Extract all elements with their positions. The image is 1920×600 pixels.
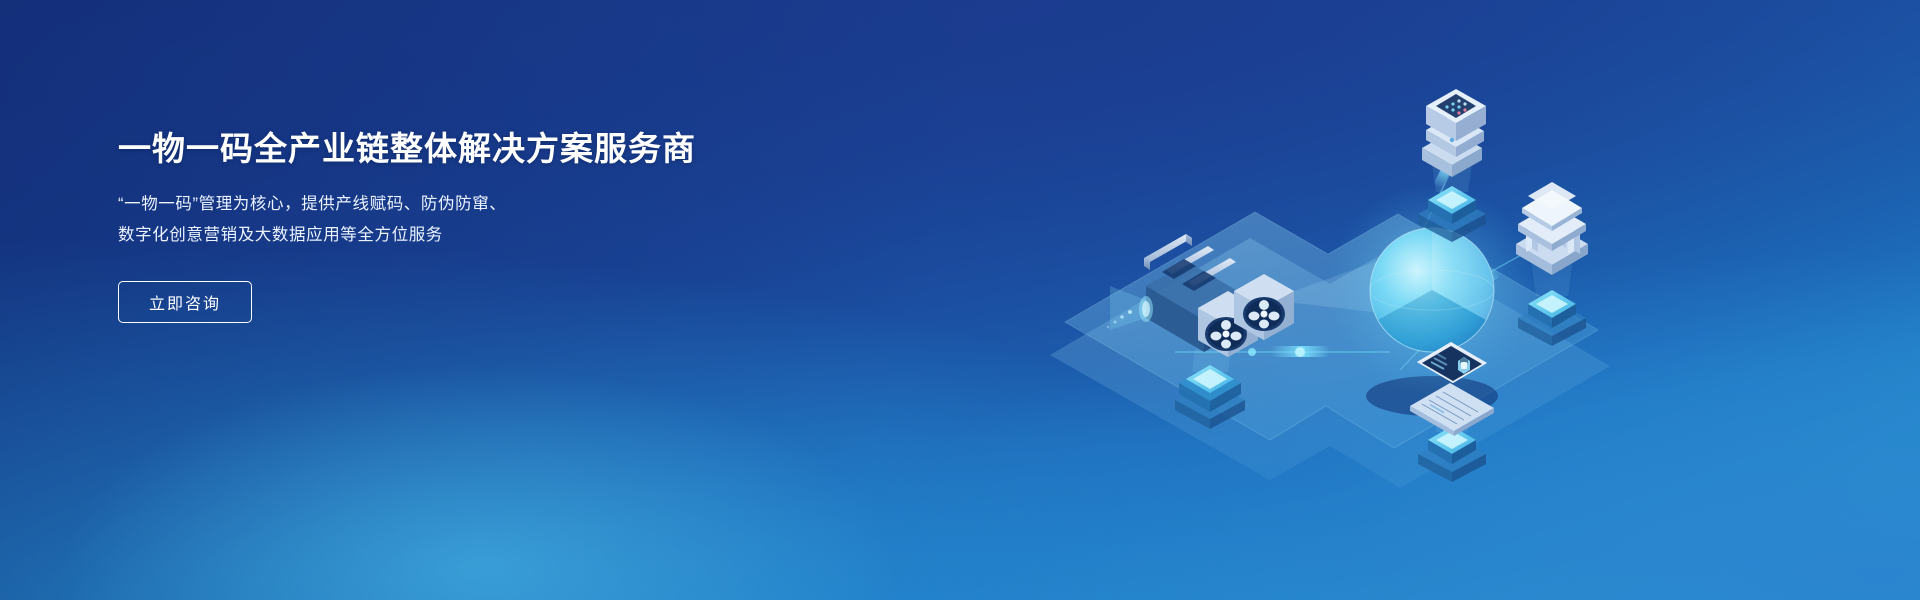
consult-now-button[interactable]: 立即咨询 — [118, 281, 252, 323]
subtitle-line-2: 数字化创意营销及大数据应用等全方位服务 — [118, 220, 678, 251]
hero-copy: 一物一码全产业链整体解决方案服务商 “一物一码”管理为核心，提供产线赋码、防伪防… — [118, 128, 818, 323]
isometric-iot-network-illustration — [970, 0, 1610, 600]
page-title: 一物一码全产业链整体解决方案服务商 — [118, 128, 818, 169]
background-glow — [0, 282, 1075, 600]
hero-subtitle: “一物一码”管理为核心，提供产线赋码、防伪防窜、 数字化创意营销及大数据应用等全… — [118, 189, 678, 251]
hero-banner: 一物一码全产业链整体解决方案服务商 “一物一码”管理为核心，提供产线赋码、防伪防… — [0, 0, 1920, 600]
subtitle-line-1: “一物一码”管理为核心，提供产线赋码、防伪防窜、 — [118, 189, 678, 220]
laptop-lock-icon — [1410, 342, 1494, 482]
